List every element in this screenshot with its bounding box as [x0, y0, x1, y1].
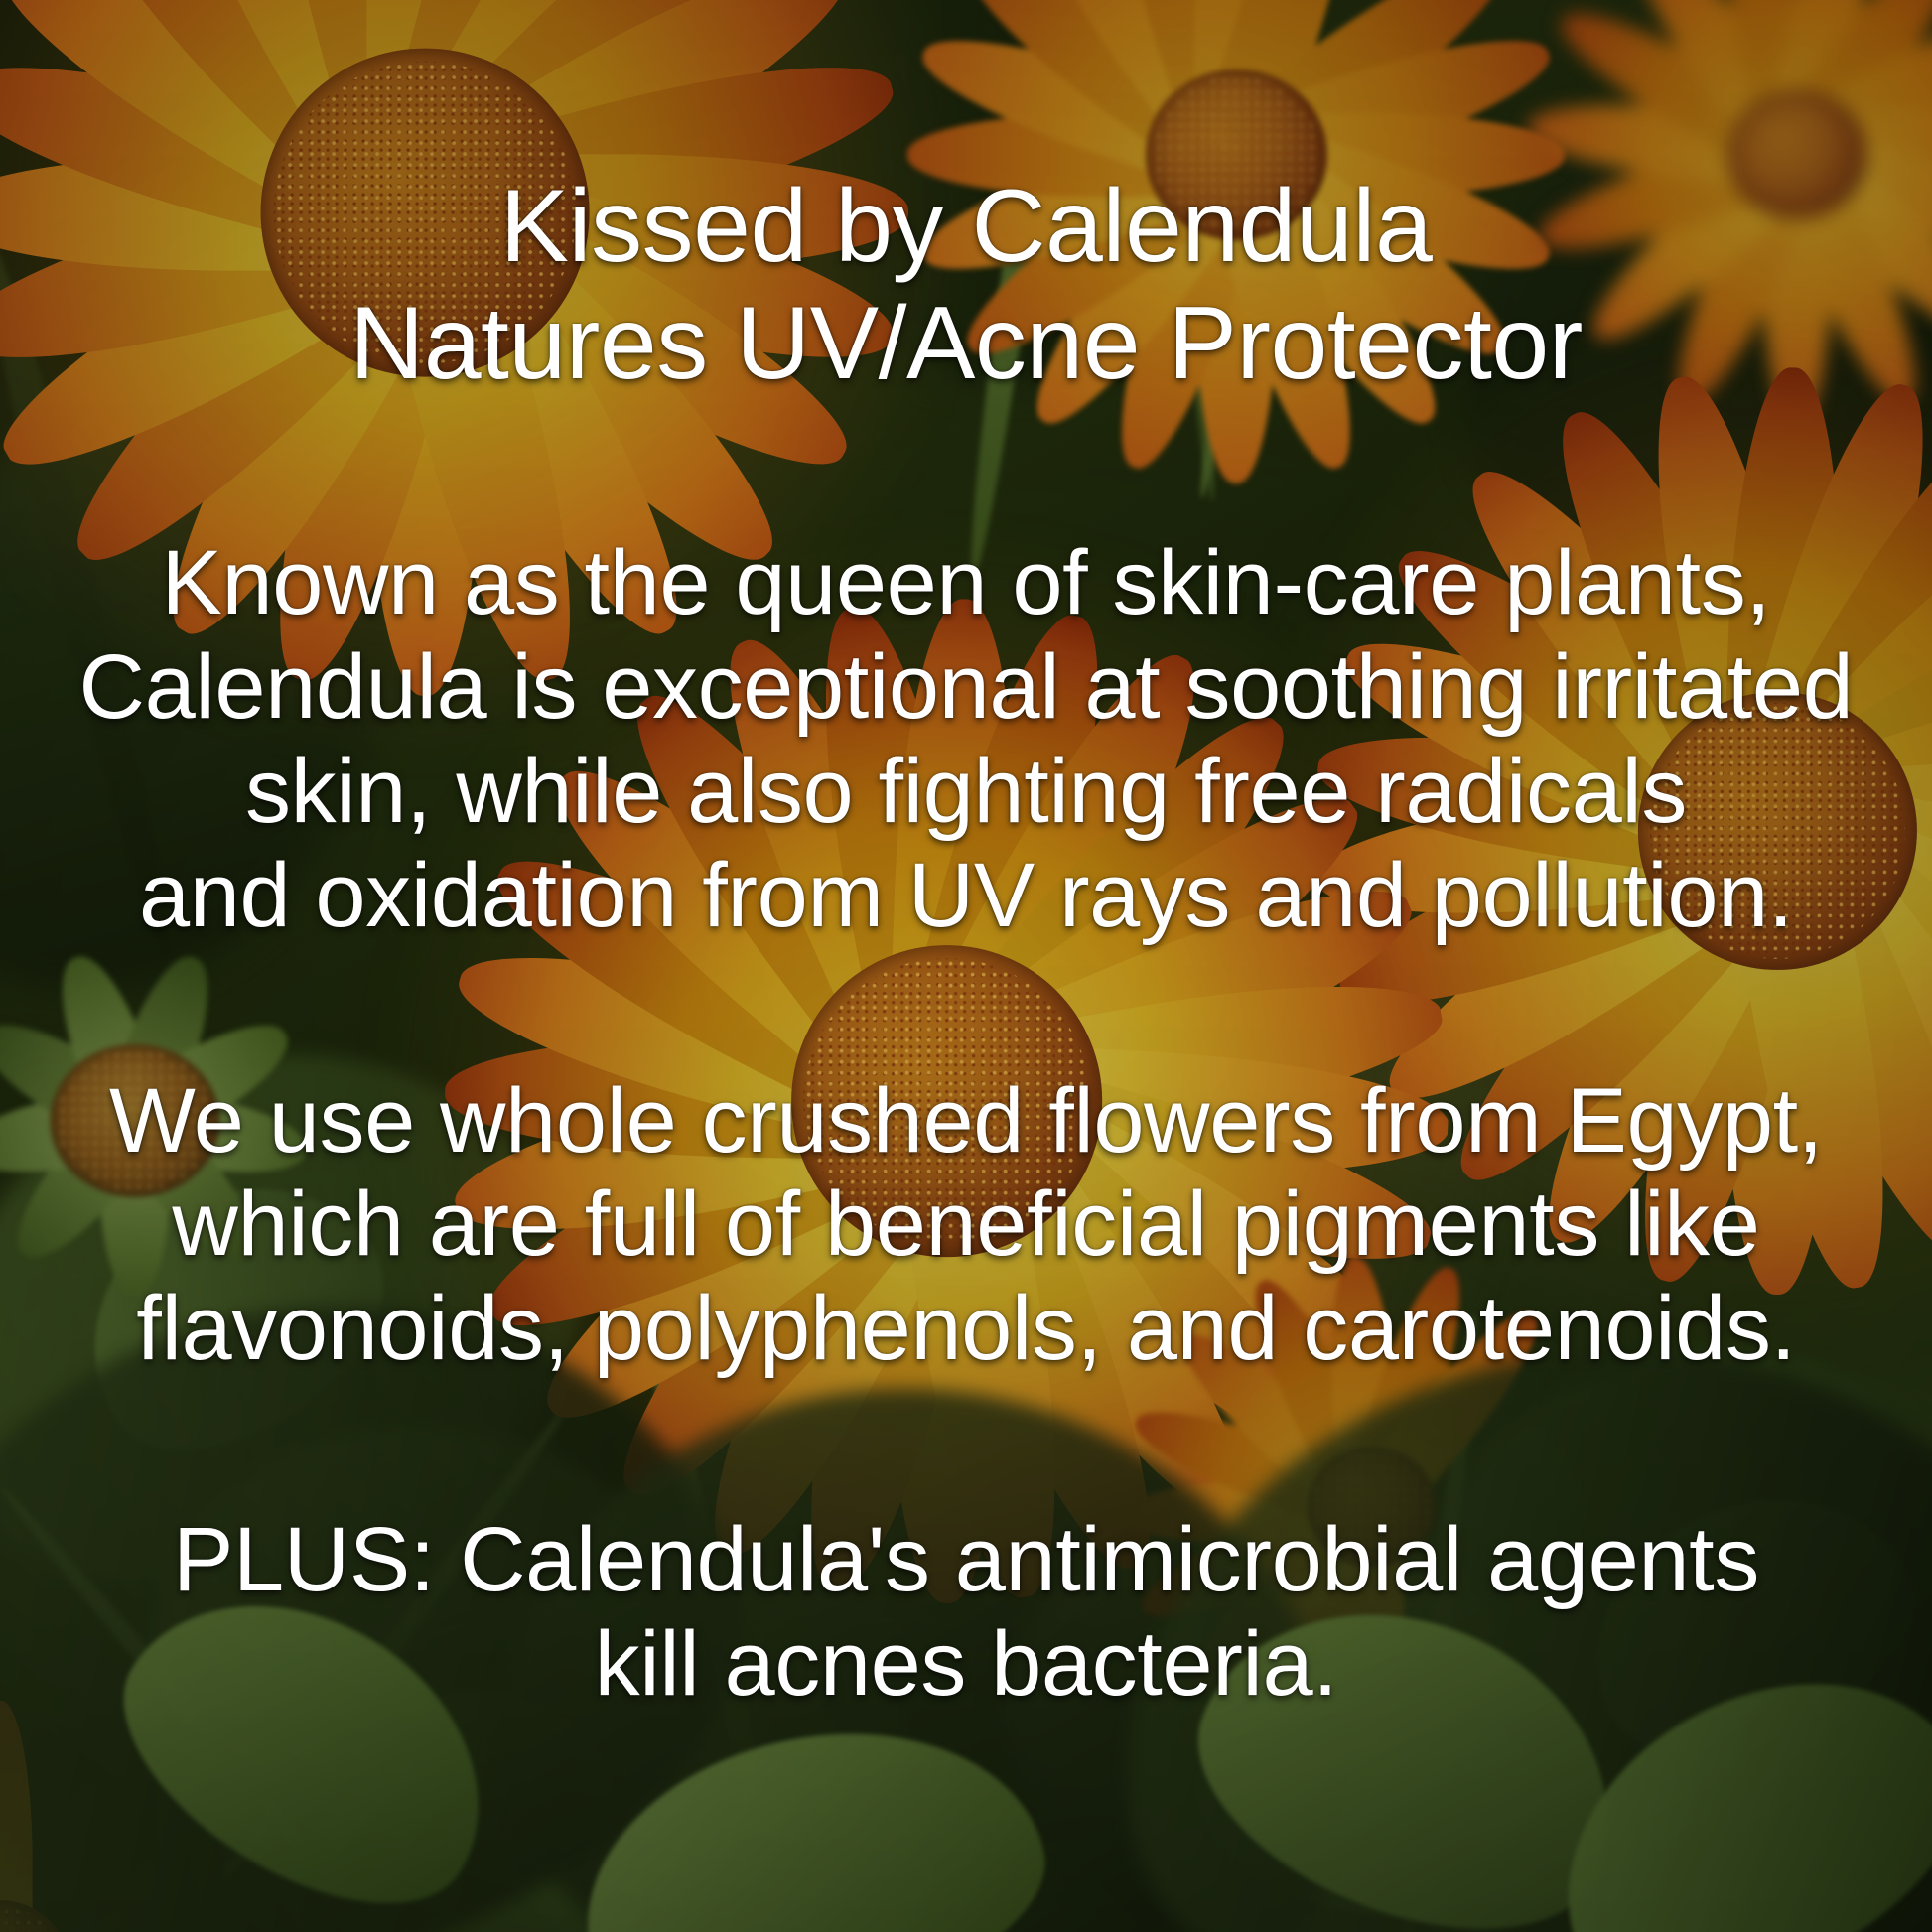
paragraph-line: and oxidation from UV rays and pollution…	[0, 844, 1932, 948]
overlay-text: Kissed by Calendula Natures UV/Acne Prot…	[0, 0, 1932, 1932]
poster-canvas: Kissed by Calendula Natures UV/Acne Prot…	[0, 0, 1932, 1932]
page-title: Kissed by Calendula Natures UV/Acne Prot…	[0, 0, 1932, 402]
headline-line-1: Kissed by Calendula	[0, 169, 1932, 286]
paragraph-line: Known as the queen of skin-care plants,	[0, 531, 1932, 635]
paragraph-antimicrobial: PLUS: Calendula's antimicrobial agents k…	[0, 1508, 1932, 1717]
paragraph-line: skin, while also fighting free radicals	[0, 740, 1932, 844]
paragraph-line: PLUS: Calendula's antimicrobial agents	[0, 1508, 1932, 1612]
paragraph-line: which are full of beneficial pigments li…	[0, 1173, 1932, 1277]
paragraph-benefits: Known as the queen of skin-care plants, …	[0, 531, 1932, 948]
paragraph-line: Calendula is exceptional at soothing irr…	[0, 635, 1932, 740]
headline-line-2: Natures UV/Acne Protector	[0, 286, 1932, 403]
paragraph-sourcing: We use whole crushed flowers from Egypt,…	[0, 1069, 1932, 1382]
paragraph-line: We use whole crushed flowers from Egypt,	[0, 1069, 1932, 1173]
paragraph-line: flavonoids, polyphenols, and carotenoids…	[0, 1277, 1932, 1381]
paragraph-line: kill acnes bacteria.	[0, 1612, 1932, 1717]
